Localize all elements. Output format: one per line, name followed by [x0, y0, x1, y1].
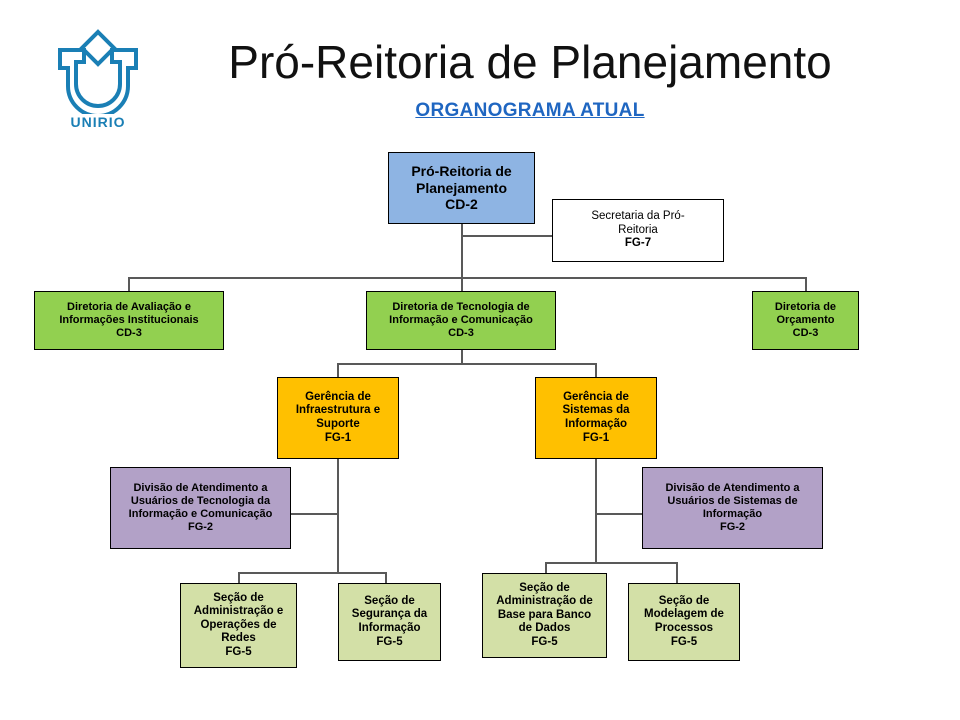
connector-drop-ger-sist — [595, 363, 597, 377]
node-label-line3: Processos — [632, 622, 736, 636]
node-code: FG-5 — [342, 636, 437, 650]
connector-drop-dir-aval — [128, 277, 130, 292]
node-label-line3: Informação — [342, 622, 437, 636]
node-code: FG-5 — [486, 636, 603, 650]
node-secao-banco-dados[interactable]: Seção de Administração de Base para Banc… — [482, 573, 607, 658]
node-label-line2: Administração e — [184, 605, 293, 619]
node-code: FG-1 — [281, 432, 395, 446]
connector-root-stem — [461, 224, 463, 277]
node-label-line2: Usuários de Sistemas de — [646, 495, 819, 508]
connector-root-secretaria — [461, 235, 553, 237]
node-label-line1: Pró-Reitoria de — [392, 163, 531, 180]
node-label-line3: Informação — [539, 418, 653, 432]
node-label-line3: Informação — [646, 508, 819, 521]
connector-gerinfra-secao-bus — [238, 572, 386, 574]
connector-level1-bus — [128, 277, 806, 279]
node-label-line3: Suporte — [281, 418, 395, 432]
node-label-line3: Informação e Comunicação — [114, 508, 287, 521]
node-code: FG-5 — [632, 636, 736, 650]
connector-drop-sec-seg — [385, 572, 387, 583]
node-divisao-usuarios-sistemas[interactable]: Divisão de Atendimento a Usuários de Sis… — [642, 467, 823, 549]
page-subtitle: ORGANOGRAMA ATUAL — [150, 100, 910, 122]
node-label-line1: Diretoria de — [756, 301, 855, 314]
node-label-line1: Diretoria de Avaliação e — [38, 301, 220, 314]
connector-drop-sec-mod — [676, 562, 678, 583]
node-code: CD-3 — [370, 327, 552, 340]
node-label-line2: Usuários de Tecnologia da — [114, 495, 287, 508]
node-label-line2: Informação e Comunicação — [370, 314, 552, 327]
node-label-line2: Administração de — [486, 595, 603, 609]
connector-drop-dir-tic — [461, 277, 463, 292]
node-label-line4: de Dados — [486, 622, 603, 636]
connector-gersist-divisao — [595, 513, 642, 515]
node-pro-reitoria-planejamento[interactable]: Pró-Reitoria de Planejamento CD-2 — [388, 152, 535, 224]
node-code: FG-2 — [114, 521, 287, 534]
connector-gerinfra-stem — [337, 459, 339, 573]
organogram-slide: UNIRIO Pró-Reitoria de Planejamento ORGA… — [0, 0, 960, 720]
connector-gersist-secao-bus — [545, 562, 677, 564]
node-diretoria-orcamento[interactable]: Diretoria de Orçamento CD-3 — [752, 291, 859, 350]
node-label-line2: Infraestrutura e — [281, 404, 395, 418]
node-label-line1: Seção de — [486, 582, 603, 596]
node-secao-redes[interactable]: Seção de Administração e Operações de Re… — [180, 583, 297, 668]
node-divisao-usuarios-tic[interactable]: Divisão de Atendimento a Usuários de Tec… — [110, 467, 291, 549]
connector-drop-sec-bd — [545, 562, 547, 573]
node-label-line2: Orçamento — [756, 314, 855, 327]
node-label-line3: Base para Banco — [486, 609, 603, 623]
node-code: FG-1 — [539, 432, 653, 446]
node-label-line1: Divisão de Atendimento a — [114, 482, 287, 495]
node-label-line1: Gerência de — [539, 391, 653, 405]
node-label-line2: Planejamento — [392, 180, 531, 197]
node-secao-seguranca[interactable]: Seção de Segurança da Informação FG-5 — [338, 583, 441, 661]
connector-gerinfra-divisao — [291, 513, 338, 515]
node-secretaria-pro-reitoria[interactable]: Secretaria da Pró- Reitoria FG-7 — [552, 199, 724, 262]
logo-wordmark: UNIRIO — [46, 114, 150, 130]
node-label-line3: Operações de — [184, 619, 293, 633]
node-label-line1: Gerência de — [281, 391, 395, 405]
node-code: CD-3 — [756, 327, 855, 340]
node-label-line1: Divisão de Atendimento a — [646, 482, 819, 495]
node-diretoria-avaliacao[interactable]: Diretoria de Avaliação e Informações Ins… — [34, 291, 224, 350]
unirio-u-logo-icon — [46, 28, 150, 114]
connector-gersist-stem — [595, 459, 597, 563]
node-secao-modelagem[interactable]: Seção de Modelagem de Processos FG-5 — [628, 583, 740, 661]
connector-drop-sec-redes — [238, 572, 240, 583]
node-label-line2: Informações Institucionais — [38, 314, 220, 327]
node-label-line2: Segurança da — [342, 608, 437, 622]
node-label-line1: Seção de — [184, 592, 293, 606]
node-code: CD-3 — [38, 327, 220, 340]
node-diretoria-tecnologia[interactable]: Diretoria de Tecnologia de Informação e … — [366, 291, 556, 350]
node-label-line2: Sistemas da — [539, 404, 653, 418]
connector-drop-ger-infra — [337, 363, 339, 377]
node-label-line2: Modelagem de — [632, 608, 736, 622]
unirio-logo: UNIRIO — [46, 28, 150, 136]
node-label-line1: Seção de — [342, 595, 437, 609]
node-code: CD-2 — [392, 196, 531, 213]
connector-dirtic-stem — [461, 350, 463, 364]
node-gerencia-infraestrutura[interactable]: Gerência de Infraestrutura e Suporte FG-… — [277, 377, 399, 459]
connector-drop-dir-orc — [805, 277, 807, 292]
node-label-line4: Redes — [184, 632, 293, 646]
node-code: FG-5 — [184, 646, 293, 660]
node-code: FG-2 — [646, 521, 819, 534]
node-code: FG-7 — [556, 237, 720, 251]
node-gerencia-sistemas[interactable]: Gerência de Sistemas da Informação FG-1 — [535, 377, 657, 459]
page-title: Pró-Reitoria de Planejamento — [150, 38, 910, 86]
node-label-line1: Secretaria da Pró- — [556, 210, 720, 224]
node-label-line1: Seção de — [632, 595, 736, 609]
connector-gerencia-bus — [337, 363, 596, 365]
node-label-line2: Reitoria — [556, 224, 720, 238]
node-label-line1: Diretoria de Tecnologia de — [370, 301, 552, 314]
